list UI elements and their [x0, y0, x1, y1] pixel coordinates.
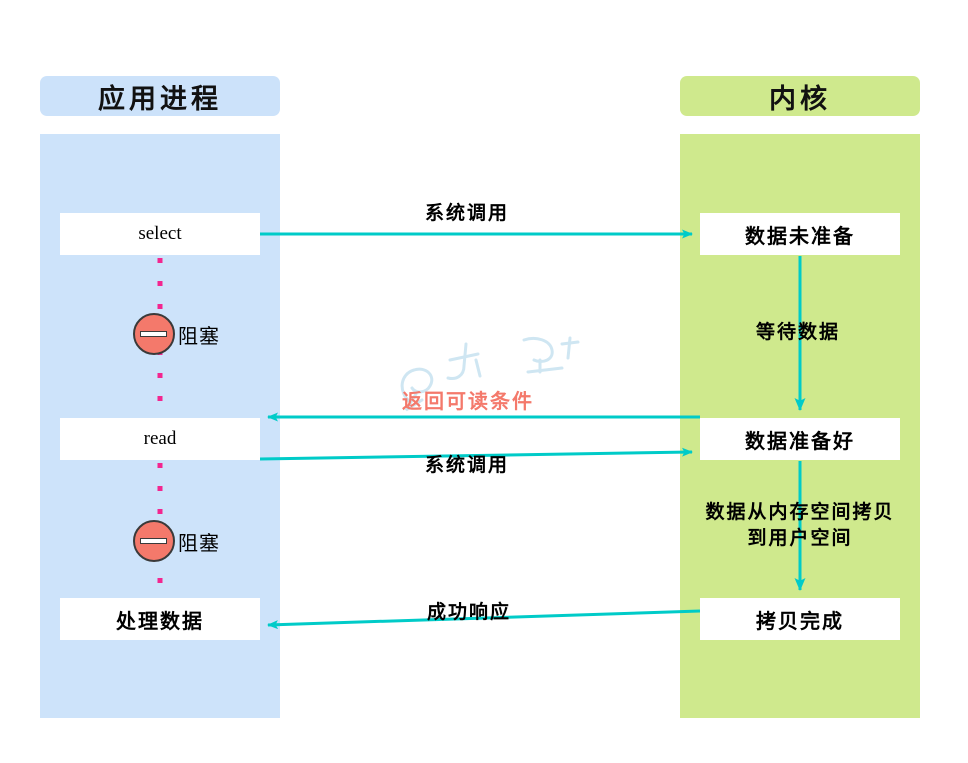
blocked-marker-2: 阻塞 [133, 520, 220, 562]
label-wait-data: 等待数据 [756, 317, 840, 344]
blocked-label-1: 阻塞 [178, 320, 220, 349]
blocked-label-2: 阻塞 [178, 527, 220, 556]
diagram-canvas: 应用进程 内核 [0, 0, 968, 763]
blocked-marker-1: 阻塞 [133, 313, 220, 355]
label-syscall-read: 系统调用 [425, 450, 509, 477]
node-data-not-ready[interactable]: 数据未准备 [700, 213, 900, 255]
label-syscall-select: 系统调用 [425, 198, 509, 225]
node-data-ready[interactable]: 数据准备好 [700, 418, 900, 460]
node-select[interactable]: select [60, 213, 260, 255]
label-success-response: 成功响应 [427, 597, 511, 624]
label-copy-note: 数据从内存空间拷贝 到用户空间 [700, 500, 900, 551]
label-copy-note-line1: 数据从内存空间拷贝 [705, 502, 894, 523]
node-process-data[interactable]: 处理数据 [60, 598, 260, 640]
node-copy-done[interactable]: 拷贝完成 [700, 598, 900, 640]
header-app-process: 应用进程 [40, 76, 280, 116]
no-entry-icon [133, 313, 175, 355]
no-entry-icon [133, 520, 175, 562]
node-read[interactable]: read [60, 418, 260, 460]
label-readable-condition: 返回可读条件 [402, 385, 534, 414]
header-kernel: 内核 [680, 76, 920, 116]
label-copy-note-line2: 到用户空间 [747, 528, 852, 549]
